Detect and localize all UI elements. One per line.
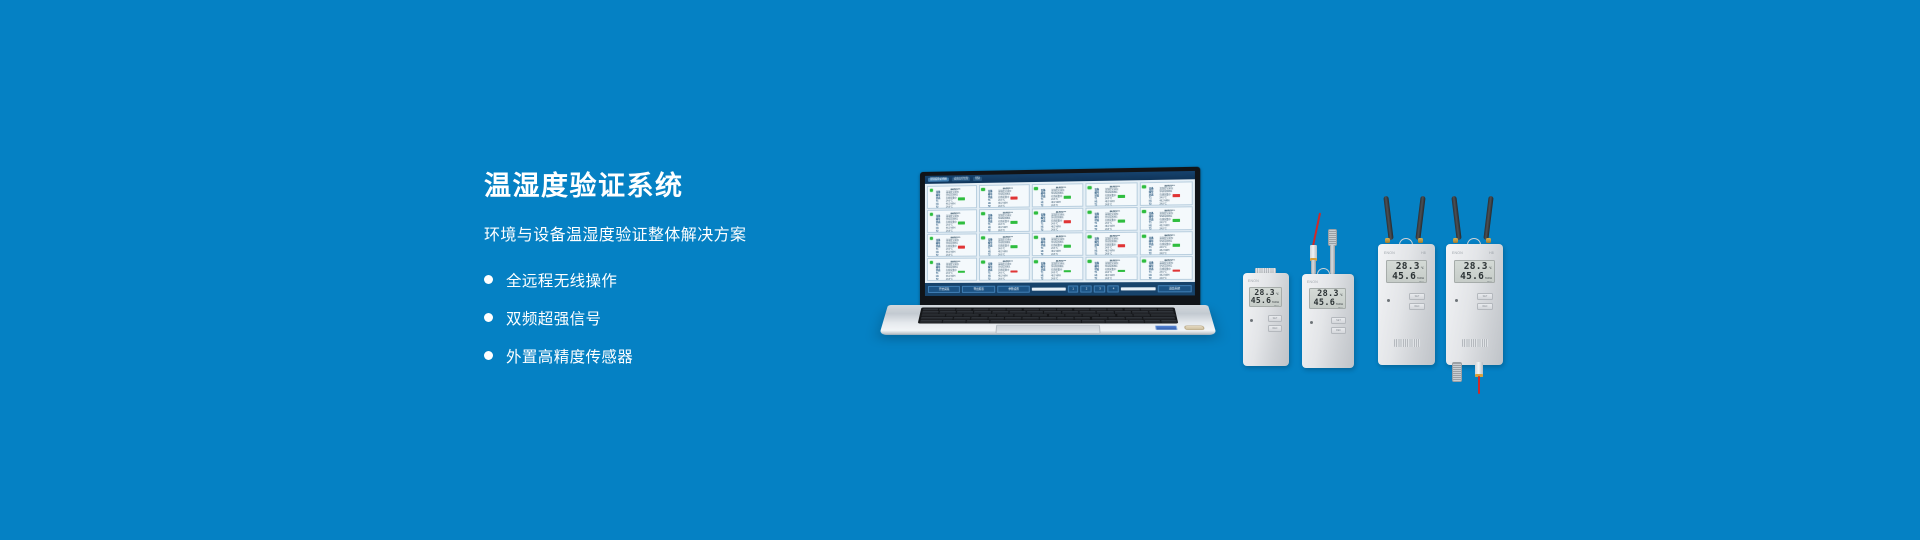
device-model-label: H8 [1421,251,1426,255]
probe-stem [1311,260,1316,274]
sensor-card[interactable]: 监测点01设备温湿度记录仪编号SN20230801状态在线采集中T124.6 °… [1032,183,1084,207]
keyboard-key[interactable] [1040,308,1056,310]
sensor-card[interactable]: 监测点01设备温湿度记录仪编号SN20230801状态在线采集中T124.6 °… [1139,231,1192,255]
device-model-label: H8 [1489,251,1494,255]
tab-device-management[interactable]: 设备监控管理 [952,177,970,181]
lcd-humidity-value: 45.6 [1251,297,1271,305]
keyboard-key[interactable] [1124,308,1140,310]
settings-button[interactable]: 参数设置 [997,286,1030,293]
device-external-probe-logger: ENON 28.3 ℃ 45.6 %RH REC SET REC [1300,200,1358,368]
page-3-button[interactable]: 3 [1094,285,1105,292]
sensor-card-key: T2 [1149,203,1160,205]
status-led-icon [1034,260,1038,264]
sensor-card[interactable]: 监测点01设备温湿度记录仪编号SN20230801状态在线采集中T124.6 °… [1085,232,1138,256]
keyboard-key[interactable] [1074,317,1090,319]
status-chip [1011,197,1018,200]
bullet-dot-icon [484,275,493,284]
page-2-button[interactable]: 2 [1081,285,1092,292]
keyboard-key[interactable] [980,314,996,316]
keyboard-key[interactable] [1083,314,1099,316]
sensor-card-title: 监测点01 [1041,210,1081,213]
keyboard-key[interactable] [1027,311,1043,313]
keyboard-key[interactable] [1134,314,1150,316]
status-led-icon [981,187,985,191]
keyboard-key[interactable] [997,314,1013,316]
laptop-base [879,305,1216,335]
sensor-card-key: T2 [1041,279,1051,281]
sensor-card[interactable]: 监测点01设备温湿度记录仪编号SN20230801状态在线采集中T124.6 °… [927,209,977,232]
sensor-card-value: 24.8 °C [998,279,1005,281]
sensor-card-value: 24.8 °C [1159,278,1166,280]
sensor-card-row: T224.8 °C [1149,253,1190,255]
sensor-card-value: 24.8 °C [1159,253,1166,255]
fingerprint-power-button[interactable] [1184,325,1205,330]
keyboard-key[interactable] [1057,317,1073,319]
lcd-humidity-unit: %RH [1336,303,1343,306]
keyboard-key[interactable] [1117,314,1133,316]
lcd-temperature-unit: ℃ [1340,294,1343,297]
device-lcd-display: 28.3 ℃ 45.6 %RH REC [1386,260,1427,283]
status-chip [958,222,965,225]
status-chip [1172,244,1179,247]
sensor-card-key: T2 [1041,229,1051,231]
device-wireless-probe-logger: ENON H8 28.3 ℃ 45.6 %RH REC SET REC [1442,194,1508,394]
lcd-humidity-value: 45.6 [1392,272,1416,282]
sensor-card-value: 24.8 °C [946,255,953,257]
device-status-led [1387,299,1390,302]
keyboard-key[interactable] [1151,314,1175,316]
keyboard-key[interactable] [1049,314,1065,316]
status-chip [1172,194,1179,197]
antenna-left-icon [1383,196,1393,240]
keyboard-key[interactable] [1097,311,1114,313]
status-led-icon [929,237,933,241]
keyboard-key[interactable] [1149,311,1174,313]
keyboard-key[interactable] [1143,317,1176,319]
device-vent-grille [1462,339,1488,347]
sensor-card-key: T2 [988,254,998,256]
sensor-card-value: 24.8 °C [998,254,1005,256]
lcd-humidity-unit: %RH [1485,277,1492,280]
feature-label: 全远程无线操作 [506,269,617,291]
sensor-card[interactable]: 监测点01设备温湿度记录仪编号SN20230801状态在线采集中T124.6 °… [979,209,1030,233]
sensor-card-row: T224.8 °C [1149,228,1190,230]
device-housing: ENON H8 28.3 ℃ 45.6 %RH REC SET REC [1378,244,1435,365]
sensor-card-row: T224.8 °C [1094,229,1135,231]
sensor-card-row: T224.8 °C [1041,254,1081,256]
device-set-button[interactable]: SET [1331,317,1346,324]
status-chip [1118,269,1125,272]
status-led-icon [981,212,985,216]
keyboard-key[interactable] [946,314,962,316]
probe-red-wire [1312,213,1321,247]
sensor-card-value: 24.8 °C [1105,278,1112,280]
feature-label: 外置高精度传感器 [506,345,633,367]
lcd-temperature-unit: ℃ [1276,293,1279,296]
laptop-product-image: 温湿度验证系统 设备监控管理 帮助 监测点01设备温湿度记录仪编号SN20230… [888,172,1208,372]
sensor-card-key: T2 [988,206,998,208]
status-led-icon [1034,236,1038,240]
status-led-icon [1088,260,1092,264]
keyboard-row[interactable] [921,314,1175,316]
status-led-icon [1034,187,1038,191]
sensor-card-value: 24.8 °C [1159,203,1166,205]
lcd-temperature-unit: ℃ [1421,267,1424,270]
sensor-card[interactable]: 监测点01设备温湿度记录仪编号SN20230801状态在线采集中T124.6 °… [1139,256,1192,280]
keyboard-row[interactable] [920,317,1176,319]
keyboard-key[interactable] [1161,320,1176,322]
antenna-right-icon [1415,196,1425,240]
sensor-card[interactable]: 监测点01设备温湿度记录仪编号SN20230801状态在线采集中T124.6 °… [979,184,1030,208]
page-subtitle: 环境与设备温湿度验证整体解决方案 [484,221,904,245]
keyboard-key[interactable] [1044,311,1060,313]
laptop-screen: 温湿度验证系统 设备监控管理 帮助 监测点01设备温湿度记录仪编号SN20230… [925,171,1195,296]
sensor-card-key: T2 [1094,254,1104,256]
keyboard-key[interactable] [1082,320,1105,322]
status-chip [1172,219,1179,222]
keyboard-key[interactable] [990,308,1006,310]
sensor-card-key: T2 [1094,229,1104,231]
lcd-status-label: REC [1457,282,1492,283]
keyboard-key[interactable] [943,320,966,322]
lcd-status-label: REC [1312,308,1343,309]
keyboard-key[interactable] [1040,317,1056,319]
sensor-card-value: 24.8 °C [998,206,1005,208]
keyboard-key[interactable] [922,308,938,310]
device-brand-label: ENON [1452,251,1463,255]
device-brand-label: ENON [1248,279,1259,283]
sensor-card-row: T224.8 °C [1149,203,1190,206]
device-housing: ENON 28.3 ℃ 45.6 %RH REC SET REC [1302,274,1354,368]
tab-monitoring[interactable]: 温湿度验证系统 [928,178,949,182]
status-led-icon [1088,235,1092,239]
antenna-right-base [1486,238,1491,243]
status-chip [958,270,965,273]
sensor-card-row: T224.8 °C [1094,253,1135,255]
sensor-card-value: 24.8 °C [1105,229,1112,231]
status-led-icon [1088,210,1092,214]
keyboard-key[interactable] [1074,308,1090,310]
page-1-button[interactable]: 1 [1067,285,1078,292]
footer-spacer [1121,288,1155,291]
device-set-button[interactable]: SET [1477,293,1493,300]
sensor-card[interactable]: 监测点01设备温湿度记录仪编号SN20230801状态在线采集中T124.6 °… [927,258,977,281]
bullet-dot-icon [484,351,493,360]
device-brand-label: ENON [1307,280,1318,284]
intel-sticker [1155,325,1178,330]
sensor-card[interactable]: 监测点01设备温湿度记录仪编号SN20230801状态在线采集中T124.6 °… [927,234,977,257]
sensor-card[interactable]: 监测点01设备温湿度记录仪编号SN20230801状态在线采集中T124.6 °… [1139,206,1192,230]
sensor-card-value: 24.8 °C [1051,205,1058,207]
probe-sensor-head [1452,362,1462,382]
status-chip [1118,245,1125,248]
sensor-card-row: T224.8 °C [988,230,1028,232]
keyboard-key[interactable] [967,320,990,322]
status-chip [1064,196,1071,199]
device-rec-button[interactable]: REC [1409,303,1425,310]
status-chip [1064,245,1071,248]
keyboard-key[interactable] [1006,308,1022,310]
antenna-right-icon [1483,196,1493,240]
list-item: 双频超强信号 [484,305,904,331]
keyboard-key[interactable] [1109,317,1125,319]
sensor-card-row: T224.8 °C [936,255,975,257]
keyboard-key[interactable] [957,311,974,313]
sensor-card-key: T2 [936,255,946,257]
laptop-trackpad[interactable] [995,325,1100,334]
sensor-card-grid: 监测点01设备温湿度记录仪编号SN20230801状态在线采集中T124.6 °… [925,179,1195,283]
sensor-card-value: 24.8 °C [1051,254,1058,256]
keyboard-row[interactable] [922,308,1174,310]
keyboard-key[interactable] [991,320,1081,322]
feature-label: 双频超强信号 [506,307,601,329]
keyboard-key[interactable] [954,317,970,319]
list-item: 全远程无线操作 [484,267,904,293]
keyboard-key[interactable] [1057,308,1073,310]
sensor-card[interactable]: 监测点01设备温湿度记录仪编号SN20230801状态在线采集中T124.6 °… [927,185,977,209]
keyboard-key[interactable] [1158,308,1174,310]
device-lcd-display: 28.3 ℃ 45.6 %RH REC [1249,287,1282,307]
list-item: 外置高精度传感器 [484,343,904,369]
sensor-card[interactable]: 监测点01设备温湿度记录仪编号SN20230801状态在线采集中T124.6 °… [1032,257,1084,280]
sensor-card-key: T2 [936,279,946,281]
keyboard-key[interactable] [1023,317,1039,319]
status-chip [1011,270,1018,273]
status-chip [1011,246,1018,249]
device-set-button[interactable]: SET [1268,315,1282,322]
keyboard-key[interactable] [922,311,939,313]
sensor-card[interactable]: 监测点01设备温湿度记录仪编号SN20230801状态在线采集中T124.6 °… [1032,233,1084,257]
keyboard-key[interactable] [1091,317,1107,319]
keyboard-key[interactable] [1090,308,1106,310]
sensor-card-key: T2 [1041,254,1051,256]
keyboard-key[interactable] [1031,314,1047,316]
sensor-card-row: T224.8 °C [1041,204,1081,207]
status-led-icon [1142,259,1146,263]
sensor-card[interactable]: 监测点01设备温湿度记录仪编号SN20230801状态在线采集中T124.6 °… [979,233,1030,256]
status-led-icon [929,188,933,192]
antenna-left-base [1453,238,1458,243]
lcd-humidity-value: 45.6 [1460,272,1484,282]
keyboard-key[interactable] [988,317,1004,319]
laptop-keyboard[interactable] [918,307,1179,323]
status-led-icon [1034,211,1038,215]
device-rec-button[interactable]: REC [1268,325,1282,332]
sensor-card-value: 24.8 °C [946,231,953,233]
keyboard-key[interactable] [939,311,956,313]
status-led-icon [929,261,933,265]
tab-help[interactable]: 帮助 [973,177,982,181]
sensor-card-row: T224.8 °C [1041,229,1081,231]
device-set-button[interactable]: SET [1409,293,1425,300]
device-wireless-dual-antenna-logger: ENON H8 28.3 ℃ 45.6 %RH REC SET REC [1374,194,1440,372]
sensor-card-key: T2 [1041,205,1051,207]
sensor-card-row: T224.8 °C [988,254,1028,256]
lcd-status-label: REC [1389,282,1424,283]
status-chip [958,197,965,200]
keyboard-key[interactable] [1023,308,1039,310]
lcd-humidity-line: 45.6 %RH [1457,272,1492,282]
sensor-card-value: 24.8 °C [998,230,1005,232]
keyboard-key[interactable] [963,314,979,316]
status-chip [1172,269,1179,272]
keyboard-key[interactable] [1079,311,1096,313]
status-chip [1118,195,1125,198]
device-lcd-display: 28.3 ℃ 45.6 %RH REC [1454,260,1495,283]
sensor-card-title: 监测点01 [1094,210,1135,213]
keyboard-key[interactable] [1105,320,1128,322]
antenna-left-icon [1451,196,1461,240]
status-led-icon [981,260,985,264]
footer-spacer [1032,288,1065,291]
keyboard-key[interactable] [1100,314,1116,316]
sensor-card-key: T2 [1149,253,1160,255]
lcd-humidity-unit: %RH [1417,277,1424,280]
sensor-card-row: T224.8 °C [1041,278,1081,280]
keyboard-key[interactable] [1129,320,1144,322]
probe-red-wire [1478,376,1480,394]
status-led-icon [1088,186,1092,190]
sensor-card-value: 24.8 °C [1051,229,1058,231]
sensor-card-value: 24.8 °C [1105,254,1112,256]
lcd-humidity-line: 45.6 %RH [1389,272,1424,282]
keyboard-key[interactable] [1114,311,1131,313]
status-led-icon [981,236,985,240]
status-led-icon [929,212,933,216]
antenna-right-base [1418,238,1423,243]
keyboard-key[interactable] [1014,314,1030,316]
sensor-card-row: T224.8 °C [1149,278,1190,280]
keyboard-key[interactable] [1005,317,1021,319]
lcd-status-label: REC [1252,306,1279,307]
keyboard-key[interactable] [920,317,953,319]
sensor-card-key: T2 [1149,278,1160,280]
product-banner: 温湿度验证系统 环境与设备温湿度验证整体解决方案 全远程无线操作 双频超强信号 … [0,0,1920,540]
lcd-humidity-unit: %RH [1272,301,1279,304]
sensor-card-title: 监测点01 [1149,209,1190,212]
status-chip [1064,270,1071,273]
keyboard-key[interactable] [1145,320,1160,322]
sensor-card[interactable]: 监测点01设备温湿度记录仪编号SN20230801状态在线采集中T124.6 °… [1139,181,1192,205]
sensor-card[interactable]: 监测点01设备温湿度记录仪编号SN20230801状态在线采集中T124.6 °… [1085,182,1138,206]
feature-list: 全远程无线操作 双频超强信号 外置高精度传感器 [484,267,904,369]
lcd-humidity-line: 45.6 %RH [1312,299,1343,308]
sensor-card-value: 24.8 °C [1051,279,1058,281]
status-led-icon [1142,185,1146,189]
device-status-led [1455,299,1458,302]
status-led-icon [1142,210,1146,214]
sensor-card[interactable]: 监测点01设备温湿度记录仪编号SN20230801状态在线采集中T124.6 °… [1085,207,1138,231]
keyboard-key[interactable] [939,308,955,310]
sensor-card[interactable]: 监测点01设备温湿度记录仪编号SN20230801状态在线采集中T124.6 °… [1085,257,1138,281]
device-housing: ENON H8 28.3 ℃ 45.6 %RH REC SET REC [1446,244,1503,365]
exit-button[interactable]: 退出系统 [1157,285,1191,293]
keyboard-row[interactable] [922,311,1175,313]
status-chip [958,246,965,249]
keyboard-key[interactable] [973,308,989,310]
sensor-card-key: T2 [936,231,946,233]
lcd-humidity-line: 45.6 %RH [1252,297,1279,305]
sensor-card-value: 24.8 °C [946,206,953,208]
sensor-card-value: 24.8 °C [1105,204,1112,206]
device-compact-logger: ENON 28.3 ℃ 45.6 %RH REC SET REC [1243,268,1289,366]
sensor-card-key: T2 [988,279,998,281]
keyboard-key[interactable] [992,311,1009,313]
page-title: 温湿度验证系统 [484,172,904,202]
page-4-button[interactable]: 4 [1108,285,1119,292]
probe-stem [1330,245,1335,274]
lcd-humidity-value: 45.6 [1314,299,1336,308]
sensor-card-title: 监测点01 [988,211,1028,214]
keyboard-key[interactable] [1062,311,1078,313]
sensor-card-row: T224.8 °C [988,279,1028,281]
sensor-card-key: T2 [1149,228,1160,230]
sensor-card-key: T2 [988,230,998,232]
sensor-card-row: T224.8 °C [988,205,1028,208]
keyboard-row[interactable] [920,320,1177,322]
sensor-card-row: T224.8 °C [936,279,975,281]
banner-text-block: 温湿度验证系统 环境与设备温湿度验证整体解决方案 全远程无线操作 双频超强信号 … [484,172,904,381]
device-housing: ENON 28.3 ℃ 45.6 %RH REC SET REC [1243,273,1289,366]
sensor-card-row: T224.8 °C [1094,278,1135,280]
device-status-led [1250,319,1253,322]
status-chip [1118,220,1125,223]
keyboard-key[interactable] [956,308,972,310]
device-rec-button[interactable]: REC [1331,327,1346,334]
sensor-card-key: T2 [1094,204,1104,206]
sensor-card-key: T2 [936,206,946,208]
keyboard-key[interactable] [974,311,991,313]
keyboard-key[interactable] [1141,308,1157,310]
probe-sensor-head [1328,229,1337,246]
app-footer-toolbar: 开始采集 导出报表 参数设置 1 2 3 4 退出系统 [925,282,1195,296]
laptop-lid: 温湿度验证系统 设备监控管理 帮助 监测点01设备温湿度记录仪编号SN20230… [920,167,1200,311]
sensor-card[interactable]: 监测点01设备温湿度记录仪编号SN20230801状态在线采集中T124.6 °… [979,258,1030,281]
device-brand-label: ENON [1384,251,1395,255]
sensor-card-row: T224.8 °C [936,206,975,209]
keyboard-key[interactable] [920,320,943,322]
keyboard-key[interactable] [1107,308,1123,310]
status-led-icon [1142,234,1146,238]
bullet-dot-icon [484,313,493,322]
sensor-card-key: T2 [1094,278,1104,280]
start-capture-button[interactable]: 开始采集 [928,286,960,293]
antenna-left-base [1385,238,1390,243]
keyboard-key[interactable] [1066,314,1082,316]
device-rec-button[interactable]: REC [1477,303,1493,310]
sensor-card-value: 24.8 °C [1159,228,1166,230]
keyboard-key[interactable] [971,317,987,319]
keyboard-key[interactable] [921,314,945,316]
sensor-card-row: T224.8 °C [936,230,975,232]
sensor-card-value: 24.8 °C [946,279,953,281]
device-vent-grille [1394,339,1420,347]
sensor-card[interactable]: 监测点01设备温湿度记录仪编号SN20230801状态在线采集中T124.6 °… [1032,208,1084,232]
status-chip [1011,221,1018,224]
keyboard-key[interactable] [1132,311,1149,313]
device-lcd-display: 28.3 ℃ 45.6 %RH REC [1309,288,1346,309]
status-chip [1064,220,1071,223]
sensor-card-row: T224.8 °C [1094,204,1135,207]
lcd-temperature-unit: ℃ [1489,267,1492,270]
export-report-button[interactable]: 导出报表 [962,286,995,293]
keyboard-key[interactable] [1009,311,1026,313]
keyboard-key[interactable] [1126,317,1142,319]
device-status-led [1310,321,1313,324]
